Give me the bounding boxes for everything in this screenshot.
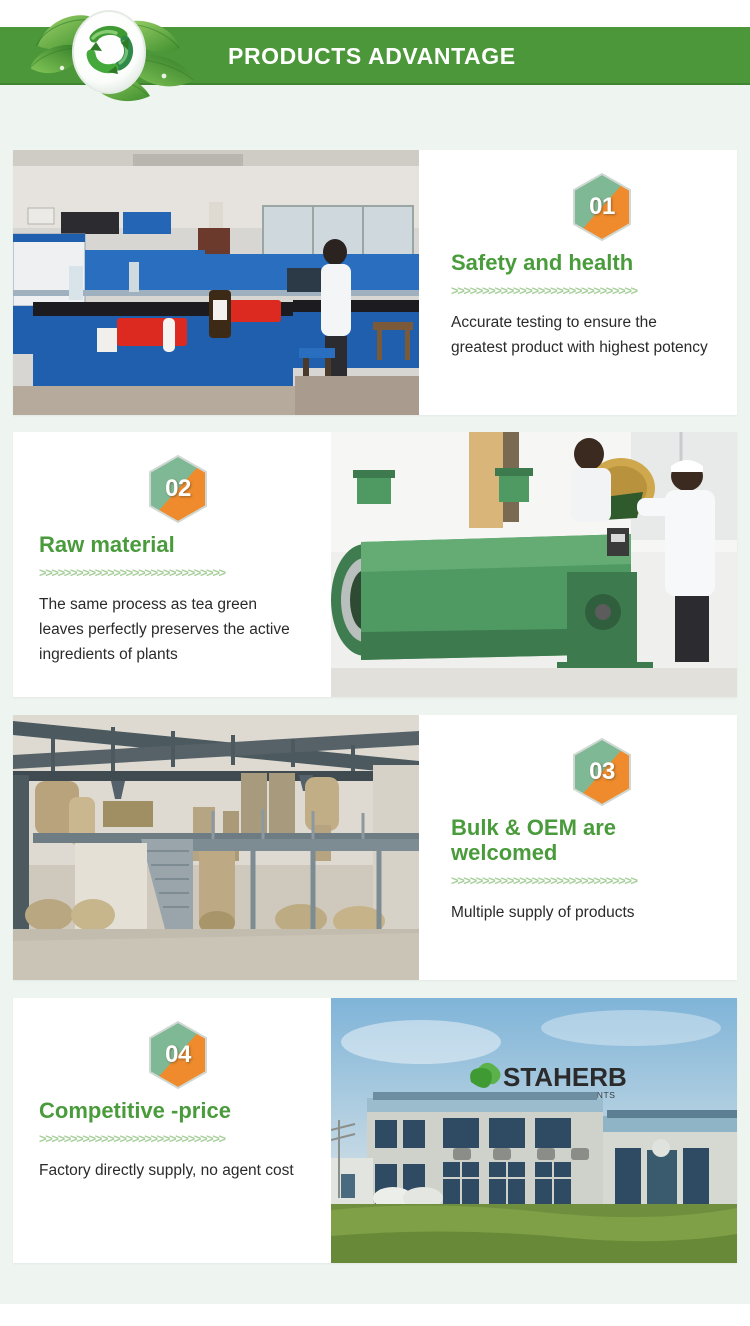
number-badge-01: 01 (571, 172, 633, 242)
badge-number-text: 01 (571, 172, 633, 242)
advantage-card-3: 03 Bulk & OEM are welcomed >>>>>>>>>>>>>… (13, 715, 737, 980)
chevron-divider-2: >>>>>>>>>>>>>>>>>>>>>>>>>>>>>> (39, 566, 291, 579)
advantage-body-1: Accurate testing to ensure the greatest … (451, 310, 709, 360)
advantage-title-4: Competitive -price (39, 1098, 231, 1123)
badge-number-text: 02 (147, 454, 209, 524)
chevron-divider-3: >>>>>>>>>>>>>>>>>>>>>>>>>>>>>> (451, 874, 703, 887)
chevron-divider-4: >>>>>>>>>>>>>>>>>>>>>>>>>>>>>> (39, 1132, 291, 1145)
advantage-body-3: Multiple supply of products (451, 900, 635, 925)
advantage-text-4: 04 Competitive -price >>>>>>>>>>>>>>>>>>… (13, 998, 331, 1263)
advantage-card-2: 02 Raw material >>>>>>>>>>>>>>>>>>>>>>>>… (13, 432, 737, 697)
advantage-body-2: The same process as tea green leaves per… (39, 592, 303, 667)
page-title: PRODUCTS ADVANTAGE (228, 27, 516, 85)
advantage-body-4: Factory directly supply, no agent cost (39, 1158, 294, 1183)
chevron-divider-1: >>>>>>>>>>>>>>>>>>>>>>>>>>>>>> (451, 284, 703, 297)
number-badge-02: 02 (147, 454, 209, 524)
number-badge-03: 03 (571, 737, 633, 807)
advantage-text-3: 03 Bulk & OEM are welcomed >>>>>>>>>>>>>… (419, 715, 737, 980)
products-advantage-page: PRODUCTS ADVANTAGE (0, 0, 750, 1326)
advantage-title-3: Bulk & OEM are welcomed (451, 815, 709, 865)
advantage-card-1: 01 Safety and health >>>>>>>>>>>>>>>>>>>… (13, 150, 737, 415)
bottom-white-strip (0, 1304, 750, 1326)
advantage-title-1: Safety and health (451, 250, 633, 275)
advantage-text-1: 01 Safety and health >>>>>>>>>>>>>>>>>>>… (419, 150, 737, 415)
factory-building-photo: STAHERB NATURAL INGREDIENTS (331, 998, 737, 1263)
laboratory-testing-photo (13, 150, 419, 415)
factory-sign-brand: STAHERB (503, 1062, 627, 1092)
advantage-title-2: Raw material (39, 532, 175, 557)
number-badge-04: 04 (147, 1020, 209, 1090)
badge-number-text: 03 (571, 737, 633, 807)
tea-roasting-machine-photo (331, 432, 737, 697)
advantage-text-2: 02 Raw material >>>>>>>>>>>>>>>>>>>>>>>>… (13, 432, 331, 697)
advantage-card-4: STAHERB NATURAL INGREDIENTS (13, 998, 737, 1263)
extraction-workshop-photo (13, 715, 419, 980)
staherb-leaf-logo (24, 2, 200, 108)
badge-number-text: 04 (147, 1020, 209, 1090)
